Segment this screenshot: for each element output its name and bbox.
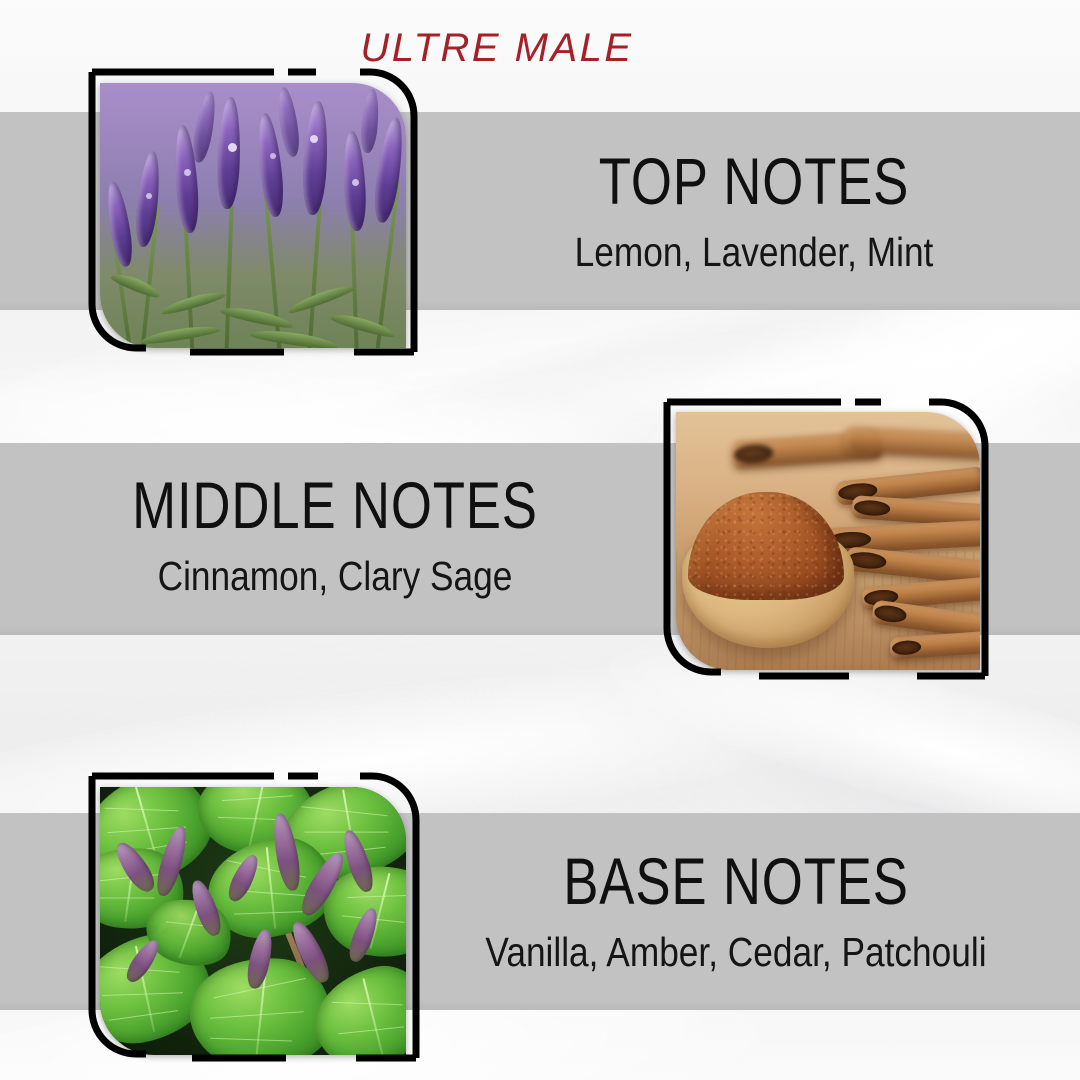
photo-card-patchouli — [88, 772, 418, 1062]
photo-card-lavender — [88, 68, 418, 356]
patchouli-image-art — [100, 787, 406, 1055]
photo-card-cinnamon — [663, 398, 993, 680]
note-ingredients-middle: Cinnamon, Clary Sage — [83, 556, 587, 597]
photo-patchouli — [100, 787, 406, 1055]
note-title-middle: MIDDLE NOTES — [101, 472, 570, 538]
note-title-base: BASE NOTES — [490, 848, 983, 914]
note-block-base: BASE NOTES Vanilla, Amber, Cedar, Patcho… — [428, 848, 1044, 973]
note-ingredients-top: Lemon, Lavender, Mint — [506, 232, 1001, 273]
fragrance-notes-poster: ULTRE MALE — [0, 0, 1080, 1080]
photo-lavender — [100, 83, 406, 348]
lavender-image-art — [100, 83, 406, 348]
cinnamon-image-art — [676, 412, 980, 670]
photo-cinnamon — [676, 412, 980, 670]
brand-title: ULTRE MALE — [0, 26, 1080, 71]
note-block-middle: MIDDLE NOTES Cinnamon, Clary Sage — [42, 472, 628, 597]
note-ingredients-base: Vanilla, Amber, Cedar, Patchouli — [471, 932, 1001, 973]
note-title-top: TOP NOTES — [524, 148, 985, 214]
note-block-top: TOP NOTES Lemon, Lavender, Mint — [466, 148, 1042, 273]
